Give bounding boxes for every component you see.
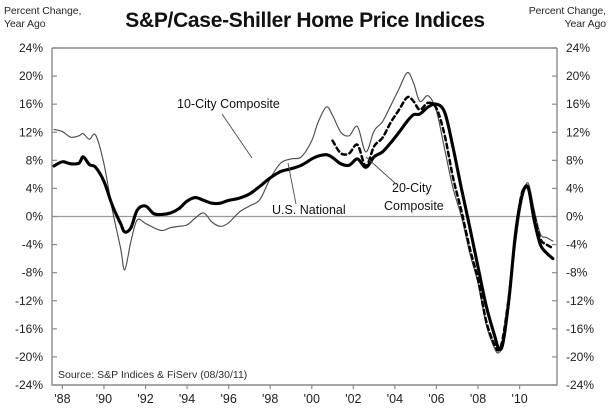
y-axis-tick-label-right: -12% — [566, 294, 594, 308]
y-axis-tick-label-left: 16% — [19, 97, 43, 111]
y-axis-tick-label-right: 12% — [566, 125, 590, 139]
y-axis-tick-label-right: -16% — [566, 322, 594, 336]
x-axis-tick-label: '98 — [262, 392, 278, 406]
y-axis-tick-label-left: 0% — [26, 210, 44, 224]
annotation-10-city-composite: 10-City Composite — [177, 97, 280, 111]
y-axis-tick-label-left: -24% — [15, 378, 43, 392]
x-axis-tick-label: '92 — [137, 392, 153, 406]
chart-container: Percent Change, Year Ago Percent Change,… — [0, 0, 610, 417]
y-axis-tick-label-left: -16% — [15, 322, 43, 336]
y-axis-tick-label-right: 8% — [566, 153, 584, 167]
series-annotations: 10-City CompositeU.S. National20-CityCom… — [177, 97, 444, 217]
y-axis-tick-label-left: -8% — [22, 266, 44, 280]
y-axis-tick-label-right: -24% — [566, 378, 594, 392]
y-axis-tick-label-left: -12% — [15, 294, 43, 308]
y-axis-tick-label-right: 0% — [566, 210, 584, 224]
y-axis-left-ticks: 24%20%16%12%8%4%0%-4%-8%-12%-16%-20%-24% — [15, 41, 57, 392]
x-axis-tick-label: '88 — [54, 392, 70, 406]
leader-20-city-composite — [366, 157, 396, 184]
x-axis-tick-label: '96 — [220, 392, 236, 406]
y-axis-tick-label-left: -20% — [15, 350, 43, 364]
y-axis-tick-label-right: -20% — [566, 350, 594, 364]
series-20-city-composite — [333, 97, 553, 351]
y-axis-tick-label-left: 8% — [26, 153, 44, 167]
y-axis-tick-label-right: 20% — [566, 69, 590, 83]
x-axis-tick-label: '08 — [470, 392, 486, 406]
y-axis-tick-label-right: -4% — [566, 238, 588, 252]
y-axis-tick-label-left: -4% — [22, 238, 44, 252]
x-axis-tick-label: '04 — [387, 392, 403, 406]
y-axis-tick-label-right: 4% — [566, 181, 584, 195]
y-axis-tick-label-left: 20% — [19, 69, 43, 83]
annotation-us-national: U.S. National — [272, 203, 346, 217]
x-axis-tick-label: '02 — [345, 392, 361, 406]
annotation-20-city-composite-line2: Composite — [384, 199, 444, 213]
series-us-national — [54, 104, 553, 350]
leader-10-city-composite — [222, 114, 252, 158]
x-axis-tick-label: '94 — [179, 392, 195, 406]
y-axis-tick-label-right: 16% — [566, 97, 590, 111]
x-axis-tick-label: '06 — [428, 392, 444, 406]
y-axis-tick-label-left: 24% — [19, 41, 43, 55]
x-axis-tick-label: '00 — [304, 392, 320, 406]
y-axis-right-ticks: 24%20%16%12%8%4%0%-4%-8%-12%-16%-20%-24% — [552, 41, 594, 392]
y-axis-tick-label-left: 4% — [26, 181, 44, 195]
x-axis-ticks: '88'90'92'94'96'98'00'02'04'06'08'10 — [54, 385, 528, 406]
source-note-text: Source: S&P Indices & FiServ (08/30/11) — [58, 369, 247, 381]
chart-plot-area: 24%20%16%12%8%4%0%-4%-8%-12%-16%-20%-24%… — [0, 0, 610, 417]
y-axis-tick-label-right: 24% — [566, 41, 590, 55]
x-axis-tick-label: '10 — [511, 392, 527, 406]
source-note: Source: S&P Indices & FiServ (08/30/11) — [58, 369, 247, 381]
annotation-20-city-composite-line1: 20-City — [392, 181, 432, 195]
y-axis-tick-label-right: -8% — [566, 266, 588, 280]
y-axis-tick-label-left: 12% — [19, 125, 43, 139]
x-axis-tick-label: '90 — [96, 392, 112, 406]
